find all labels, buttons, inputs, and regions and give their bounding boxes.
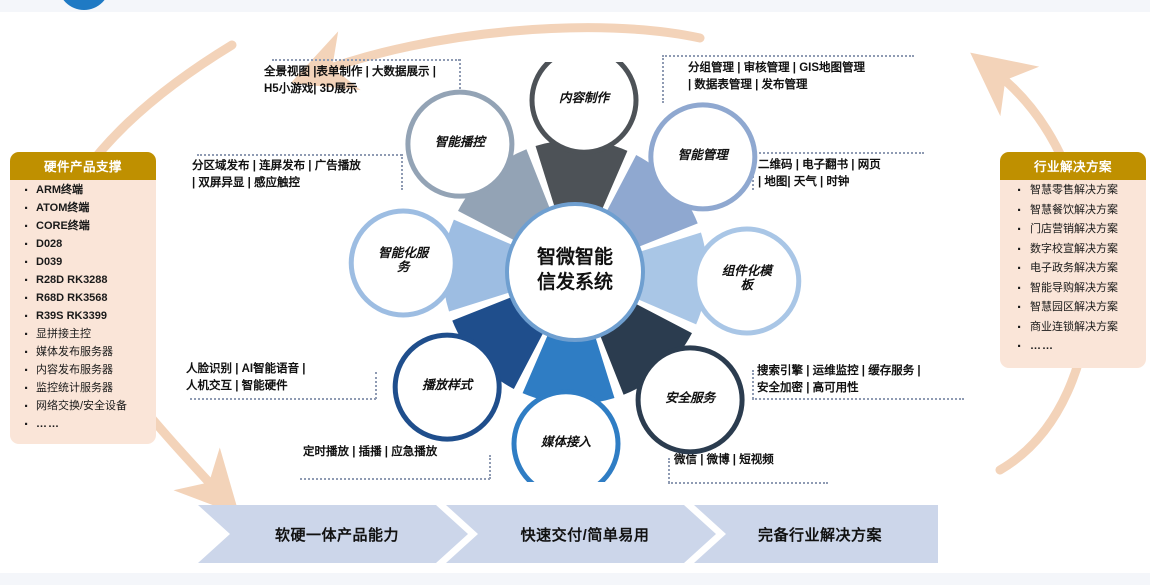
list-item[interactable]: R28D RK3288 xyxy=(14,275,152,286)
industry-solutions-list: 智慧零售解决方案 智慧餐饮解决方案 门店营销解决方案 数字校宣解决方案 电子政务… xyxy=(1004,185,1142,352)
list-item[interactable]: R39S RK3399 xyxy=(14,311,152,322)
industry-solutions-title: 行业解决方案 xyxy=(1000,152,1146,180)
list-item[interactable]: 显拼接主控 xyxy=(14,329,152,340)
list-item[interactable]: 监控统计服务器 xyxy=(14,383,152,394)
list-item[interactable]: 智慧餐饮解决方案 xyxy=(1004,205,1142,216)
hub-node-label-content-production: 内容制作 xyxy=(541,91,627,105)
hardware-support-list: ARM终端 ATOM终端 CORE终端 D028 D039 R28D RK328… xyxy=(14,185,152,430)
list-item[interactable]: R68D RK3568 xyxy=(14,293,152,304)
hub-center-label: 智微智能信发系统 xyxy=(500,246,650,295)
list-item[interactable]: D039 xyxy=(14,257,152,268)
leader-content-production xyxy=(272,59,460,61)
hub-diagram: 内容制作智能管理组件化模板安全服务媒体接入播放样式智能化服务智能播控智微智能信发… xyxy=(330,62,820,482)
list-item[interactable]: 媒体发布服务器 xyxy=(14,347,152,358)
list-item[interactable]: 内容发布服务器 xyxy=(14,365,152,376)
hub-node-content-production[interactable] xyxy=(532,62,636,152)
list-item[interactable]: 门店营销解决方案 xyxy=(1004,224,1142,235)
chevron-industry-solutions[interactable]: 完备行业解决方案 xyxy=(694,505,938,563)
chevron-label: 快速交付/简单易用 xyxy=(521,524,650,545)
hub-node-label-smart-broadcast: 智能播控 xyxy=(417,135,503,149)
hub-node-label-play-style: 播放样式 xyxy=(404,378,490,392)
list-item[interactable]: ARM终端 xyxy=(14,185,152,196)
list-item[interactable]: 商业连锁解决方案 xyxy=(1004,322,1142,333)
list-item[interactable]: 智慧零售解决方案 xyxy=(1004,185,1142,196)
diagram-canvas: 硬件产品支撑 ARM终端 ATOM终端 CORE终端 D028 D039 R28… xyxy=(0,0,1150,585)
hardware-support-title: 硬件产品支撑 xyxy=(10,152,156,180)
hub-node-label-component-template: 组件化模板 xyxy=(704,264,790,293)
leader-smart-management xyxy=(662,55,914,57)
list-item[interactable]: …… xyxy=(1004,341,1142,352)
list-item[interactable]: CORE终端 xyxy=(14,221,152,232)
list-item[interactable]: 数字校宣解决方案 xyxy=(1004,244,1142,255)
chevron-label: 完备行业解决方案 xyxy=(758,524,882,545)
hardware-support-panel: 硬件产品支撑 ARM终端 ATOM终端 CORE终端 D028 D039 R28… xyxy=(10,152,156,444)
capability-chevrons: 软硬一体产品能力 快速交付/简单易用 完备行业解决方案 xyxy=(198,505,938,563)
list-item[interactable]: 电子政务解决方案 xyxy=(1004,263,1142,274)
hub-node-label-security-service: 安全服务 xyxy=(647,391,733,405)
industry-solutions-panel: 行业解决方案 智慧零售解决方案 智慧餐饮解决方案 门店营销解决方案 数字校宣解决… xyxy=(1000,152,1146,368)
chevron-fast-delivery[interactable]: 快速交付/简单易用 xyxy=(446,505,716,563)
hub-node-label-media-access: 媒体接入 xyxy=(523,435,609,449)
list-item[interactable]: D028 xyxy=(14,239,152,250)
list-item[interactable]: ATOM终端 xyxy=(14,203,152,214)
hub-node-label-smart-service: 智能化服务 xyxy=(360,246,446,275)
chevron-integrated-capability[interactable]: 软硬一体产品能力 xyxy=(198,505,468,563)
list-item[interactable]: 网络交换/安全设备 xyxy=(14,401,152,412)
list-item[interactable]: 智慧园区解决方案 xyxy=(1004,302,1142,313)
leader-media-access xyxy=(668,482,828,484)
list-item[interactable]: …… xyxy=(14,419,152,430)
hub-node-label-smart-management: 智能管理 xyxy=(660,148,746,162)
list-item[interactable]: 智能导购解决方案 xyxy=(1004,283,1142,294)
chevron-label: 软硬一体产品能力 xyxy=(275,524,399,545)
